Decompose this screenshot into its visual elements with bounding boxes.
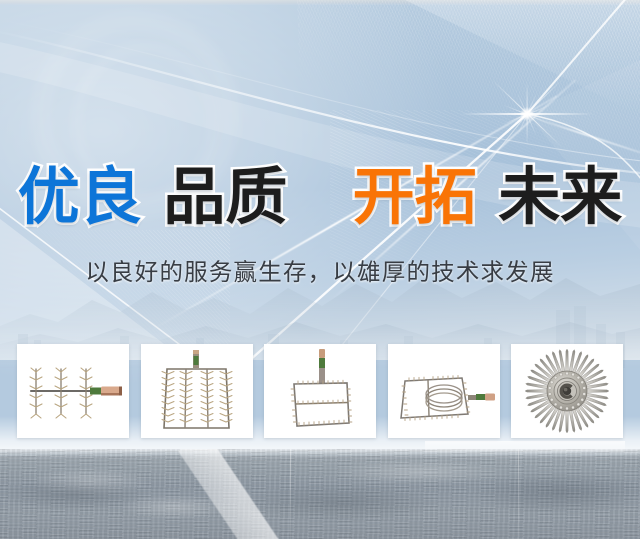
rectangular-frame-grill-icon	[264, 344, 376, 438]
pavement-ground	[0, 449, 640, 539]
flat-grid-with-ring-icon	[388, 344, 500, 438]
ferrule	[90, 388, 101, 395]
headline-segment-3: 开拓	[353, 166, 477, 228]
ground-reflection	[425, 441, 625, 453]
product-card[interactable]	[388, 344, 500, 438]
radial-spike-hub-icon	[511, 344, 623, 438]
headline-segment-4: 未来	[498, 166, 622, 228]
product-card[interactable]	[264, 344, 376, 438]
headline-segment-2: 品质	[163, 166, 287, 228]
multi-row-spike-rake-icon	[141, 344, 253, 438]
headline-spacer	[309, 166, 331, 228]
ground-shadow	[0, 477, 150, 511]
ferrule	[319, 358, 325, 368]
ground-seam	[290, 449, 291, 539]
product-card-row	[17, 344, 623, 438]
headline: 优良 品质 开拓 未来	[0, 166, 640, 228]
multi-branch-skewer-rack-icon	[17, 344, 129, 438]
ground-shadow	[470, 471, 640, 515]
handle	[319, 349, 325, 358]
handle	[485, 394, 495, 401]
ferrule	[476, 394, 486, 400]
promo-banner: 优良 品质 开拓 未来 以良好的服务赢生存，以雄厚的技术求发展	[0, 0, 640, 539]
ferrule	[193, 356, 198, 365]
product-card[interactable]	[141, 344, 253, 438]
product-card[interactable]	[17, 344, 129, 438]
ground-seam	[518, 449, 519, 539]
ground-shadow	[240, 483, 440, 523]
headline-segment-1: 优良	[18, 166, 142, 228]
product-card[interactable]	[511, 344, 623, 438]
subtitle: 以良好的服务赢生存，以雄厚的技术求发展	[0, 258, 640, 286]
